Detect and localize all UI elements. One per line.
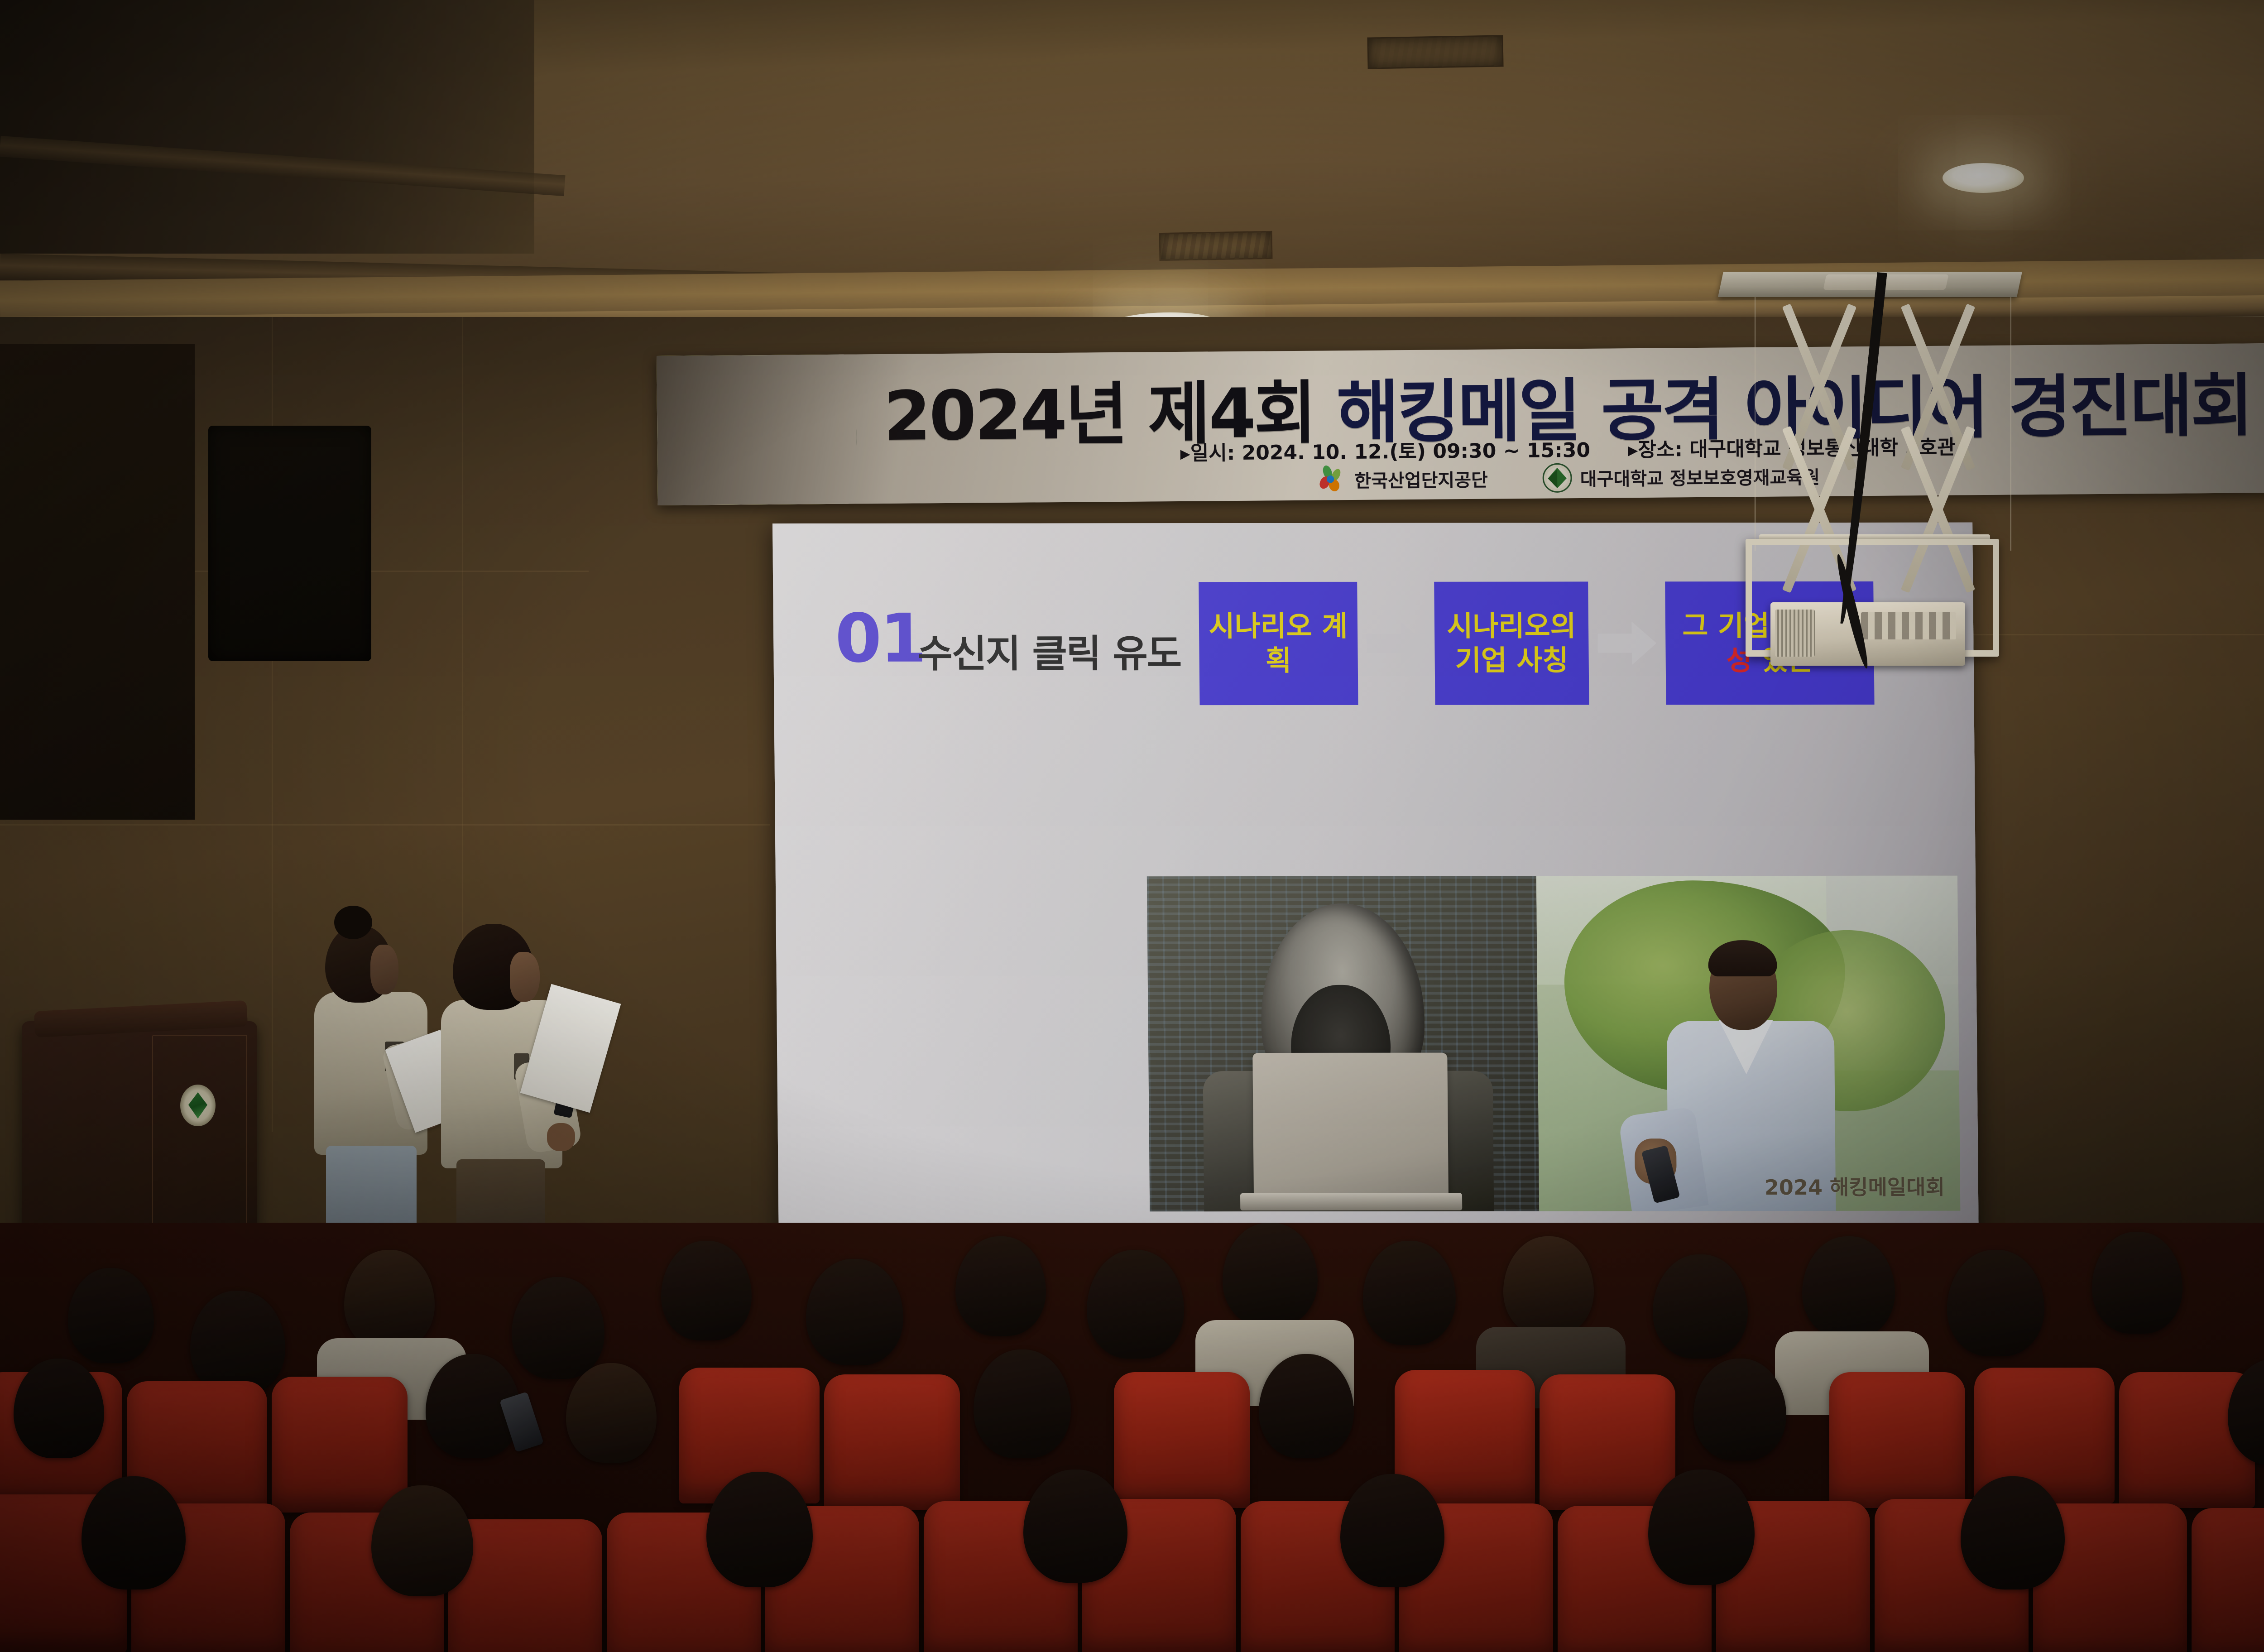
ceiling-light — [1943, 163, 2024, 193]
audience-head — [1363, 1241, 1456, 1345]
audience-head — [1023, 1470, 1127, 1583]
ceiling-vent-icon — [1367, 35, 1503, 69]
audience-head — [371, 1485, 473, 1596]
presenter-hair-bun — [334, 906, 372, 939]
audience-head — [1648, 1470, 1755, 1585]
banner-date: ▸일시: 2024. 10. 12.(토) 09:30 ~ 15:30 — [1180, 439, 1590, 465]
audience-head — [1087, 1250, 1184, 1359]
audience-head — [2092, 1232, 2182, 1334]
audience-head — [974, 1349, 1071, 1458]
audience-head — [661, 1241, 752, 1340]
seat — [272, 1377, 408, 1513]
audience-head — [1802, 1236, 1895, 1338]
slide-photo-hacker — [1147, 876, 1539, 1212]
projector-vent-icon — [1775, 610, 1815, 657]
audience-head — [82, 1476, 186, 1590]
arrow-right-icon — [1597, 621, 1657, 665]
sponsor-logo-kicox: 한국산업단지공단 — [1316, 464, 1488, 495]
flow-step-2-label: 시나리오의 기업 사칭 — [1447, 609, 1577, 677]
dgu-emblem-icon — [1542, 463, 1573, 493]
flow-step-2: 시나리오의 기업 사칭 — [1434, 581, 1589, 705]
rig-safety-wire — [1755, 297, 1756, 551]
arrow-right-icon — [1367, 622, 1426, 665]
audience-head — [1340, 1474, 1444, 1587]
audience-head — [14, 1359, 104, 1458]
presenter-face — [370, 945, 398, 994]
audience-head — [955, 1236, 1046, 1336]
flow-step-1-label: 시나리오 계획 — [1206, 609, 1351, 678]
laptop-base — [1240, 1193, 1462, 1210]
ceiling-dark-section — [0, 0, 534, 254]
audience-head — [190, 1291, 285, 1395]
presenter-hand — [547, 1123, 575, 1151]
audience-head — [1259, 1354, 1354, 1458]
audience-seating: 심사위원석 통기초 — [0, 1223, 2264, 1652]
seat — [2192, 1508, 2264, 1652]
audience-head — [1961, 1476, 2065, 1590]
auditorium-photo: 2024년 제4회 해킹메일 공격 아이디어 경진대회 ▸일시: 2024. 1… — [0, 0, 2264, 1652]
rig-safety-wire — [2010, 297, 2011, 551]
seat — [1114, 1372, 1250, 1508]
slide-photo-row: 2024 해킹메일대회 — [1147, 876, 1961, 1212]
seat — [1829, 1372, 1965, 1508]
ceiling-vent-icon — [1159, 231, 1272, 261]
wall-dark-panel — [0, 344, 195, 820]
audience-head — [344, 1250, 435, 1349]
slide-photo-street: 2024 해킹메일대회 — [1536, 876, 1960, 1211]
presenter-face — [510, 952, 540, 1002]
university-emblem-icon — [180, 1085, 216, 1126]
audience-head — [566, 1363, 657, 1463]
flow-step-1: 시나리오 계획 — [1199, 582, 1358, 705]
audience-head — [806, 1259, 903, 1365]
seat — [824, 1374, 960, 1510]
audience-head — [706, 1472, 813, 1587]
audience-head — [512, 1277, 604, 1379]
audience-head — [1223, 1223, 1318, 1327]
projector-ports — [1861, 612, 1956, 639]
slide-section-heading: 수신지 클릭 유도 — [917, 634, 1181, 673]
projector — [1770, 602, 1965, 666]
slide-photo-caption: 2024 해킹메일대회 — [1765, 1171, 1945, 1201]
flow-arrow-1 — [1357, 582, 1435, 705]
audience-head — [1947, 1250, 2044, 1356]
slide-section-number: 01 — [835, 605, 925, 672]
audience-head — [1503, 1236, 1594, 1336]
wall-speaker — [208, 426, 371, 661]
flower-logo-icon — [1316, 465, 1347, 495]
laptop-icon — [1252, 1053, 1449, 1202]
audience-head — [1653, 1254, 1748, 1359]
seat — [1540, 1374, 1675, 1510]
flow-arrow-2 — [1588, 581, 1666, 705]
audience-head — [68, 1268, 154, 1363]
sponsor-logo-label: 한국산업단지공단 — [1354, 466, 1488, 493]
audience-head — [1693, 1359, 1786, 1460]
ceiling-projector-rig — [1712, 272, 2042, 670]
